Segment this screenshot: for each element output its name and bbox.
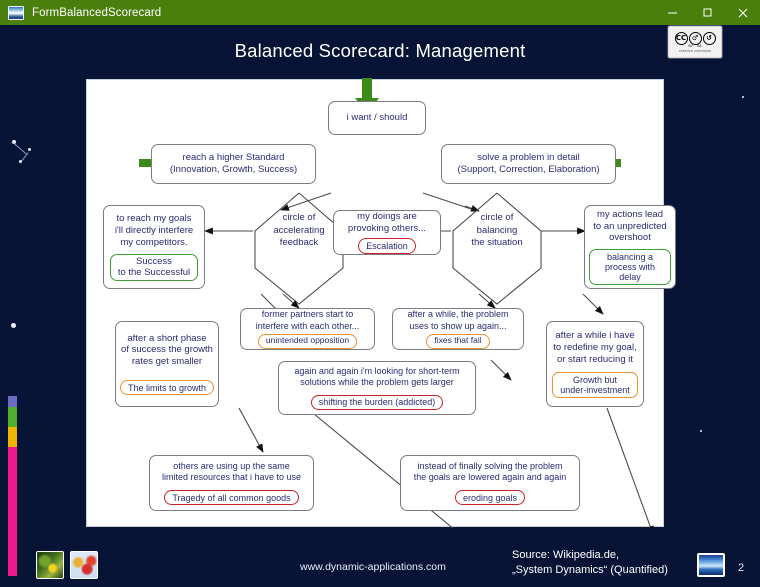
node-tag: balancing a process with delay [589,249,671,285]
window-app-icon [8,6,24,20]
application-window: FormBalancedScorecard [0,0,760,25]
node-tag: unintended opposition [258,334,357,349]
close-button[interactable] [725,0,760,25]
node-text: instead of finally solving the problem t… [414,461,567,484]
node-solve-problem-in-detail[interactable]: solve a problem in detail (Support, Corr… [441,144,616,184]
desktop-background: FormBalancedScorecard Balanced Scorecard… [0,0,760,587]
node-text: solve a problem in detail (Support, Corr… [457,152,599,176]
footer-source: Source: Wikipedia.de, „System Dynamics“ … [512,548,668,578]
footer-website-url: www.dynamic-applications.com [300,561,446,573]
node-text: my doings are provoking others... [348,211,426,235]
diagram-canvas: circle of accelerating feedback circle o… [86,79,664,527]
node-tag: shifting the burden (addicted) [311,395,444,410]
node-text: to reach my goals i'll directly interfer… [115,213,193,249]
node-reach-my-goals[interactable]: to reach my goals i'll directly interfer… [103,205,205,289]
node-text: my actions lead to an unpredicted oversh… [593,209,666,245]
node-problem-shows-up-again[interactable]: after a while, the problem uses to show … [392,308,524,350]
color-strip [8,396,17,576]
node-former-partners-interfere[interactable]: former partners start to interfere with … [240,308,375,350]
cc-subtitle-row: BY SA [688,44,701,48]
node-text: after a short phase of success the growt… [121,333,213,369]
cc-by-label: BY [688,44,693,48]
node-text: after a while, the problem uses to show … [407,309,508,332]
node-text: reach a higher Standard (Innovation, Gro… [170,152,297,176]
hex-label-accelerating-feedback: circle of accelerating feedback [253,202,345,260]
node-reach-higher-standard[interactable]: reach a higher Standard (Innovation, Gro… [151,144,316,184]
desktop-thumbnail-worldmap[interactable] [70,551,98,579]
page-number: 2 [738,562,744,574]
slide-thumbnail[interactable] [697,553,725,577]
footer-source-line-1: Source: Wikipedia.de, [512,548,668,563]
node-redefine-my-goal[interactable]: after a while i have to redefine my goal… [546,321,644,407]
node-text: i want / should [347,112,408,124]
node-i-want-should[interactable]: i want / should [328,101,426,135]
node-tag: Escalation [358,238,416,253]
desktop-thumbnail-foliage[interactable] [36,551,64,579]
node-growth-rates-smaller[interactable]: after a short phase of success the growt… [115,321,219,407]
node-actions-lead-overshoot[interactable]: my actions lead to an unpredicted oversh… [584,205,676,289]
node-my-doings-provoking[interactable]: my doings are provoking others... Escala… [333,210,441,255]
hex-label-balancing-situation: circle of balancing the situation [451,202,543,260]
window-controls [655,0,760,25]
window-titlebar[interactable]: FormBalancedScorecard [0,0,760,25]
node-goals-lowered[interactable]: instead of finally solving the problem t… [400,455,580,511]
node-others-using-resources[interactable]: others are using up the same limited res… [149,455,314,511]
node-text: others are using up the same limited res… [162,461,301,484]
window-title: FormBalancedScorecard [32,7,161,19]
node-text: again and again i'm looking for short-te… [294,366,459,389]
cc-icon: CC [675,32,688,45]
node-tag: Growth but under-investment [552,372,638,398]
node-text: after a while i have to redefine my goal… [553,330,636,366]
maximize-button[interactable] [690,0,725,25]
cc-sa-label: SA [697,44,702,48]
minimize-button[interactable] [655,0,690,25]
node-tag: Tragedy of all common goods [164,490,298,505]
creative-commons-badge: CC ♂ ↺ BY SA creative commons [668,26,722,58]
node-tag: eroding goals [455,490,525,505]
node-short-term-solutions[interactable]: again and again i'm looking for short-te… [278,361,476,415]
node-tag: fixes that fail [426,334,489,349]
node-text: former partners start to interfere with … [256,309,360,332]
node-tag: The limits to growth [120,380,214,395]
cc-caption: creative commons [679,49,711,53]
node-tag: Success to the Successful [110,254,198,281]
footer-source-line-2: „System Dynamics“ (Quantified) [512,563,668,578]
slide-title: Balanced Scorecard: Management [0,40,760,62]
cc-sa-icon: ↺ [703,32,716,45]
